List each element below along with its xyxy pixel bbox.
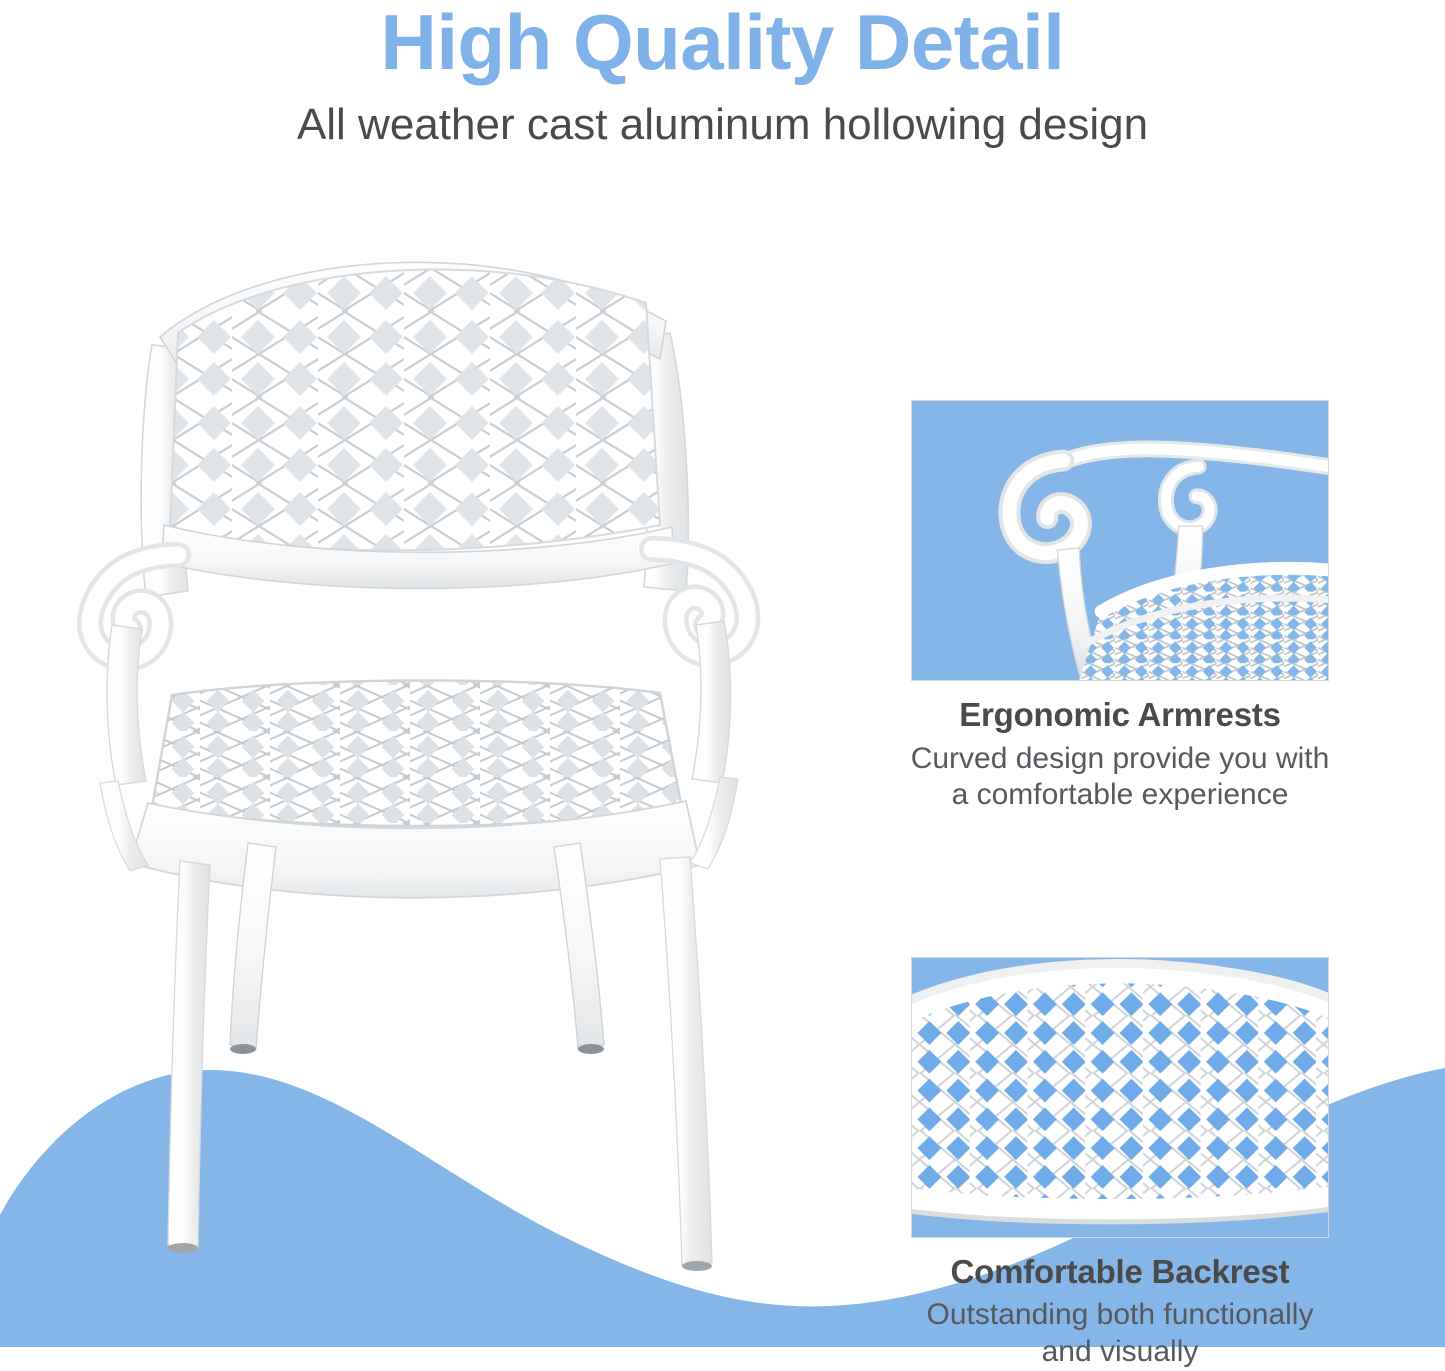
header: High Quality Detail All weather cast alu… bbox=[0, 0, 1445, 150]
feature-ergonomic-armrests: Ergonomic Armrests Curved design provide… bbox=[890, 400, 1350, 814]
feature-list: Ergonomic Armrests Curved design provide… bbox=[890, 400, 1350, 1371]
feature-title: Comfortable Backrest bbox=[890, 1252, 1350, 1292]
chair-back-frame bbox=[140, 235, 700, 597]
feature-title: Ergonomic Armrests bbox=[890, 695, 1350, 735]
feature-caption: Ergonomic Armrests Curved design provide… bbox=[890, 681, 1350, 814]
main-product-image bbox=[60, 225, 870, 1315]
feature-description: Curved design provide you with a comfort… bbox=[890, 735, 1350, 814]
page-subtitle: All weather cast aluminum hollowing desi… bbox=[0, 84, 1445, 151]
page-title: High Quality Detail bbox=[0, 0, 1445, 84]
feature-description: Outstanding both functionally and visual… bbox=[890, 1291, 1350, 1370]
feature-comfortable-backrest: Comfortable Backrest Outstanding both fu… bbox=[890, 957, 1350, 1371]
armrest-detail-photo bbox=[911, 400, 1329, 681]
chair-legs bbox=[168, 843, 712, 1271]
feature-caption: Comfortable Backrest Outstanding both fu… bbox=[890, 1238, 1350, 1371]
backrest-detail-photo bbox=[911, 957, 1329, 1238]
